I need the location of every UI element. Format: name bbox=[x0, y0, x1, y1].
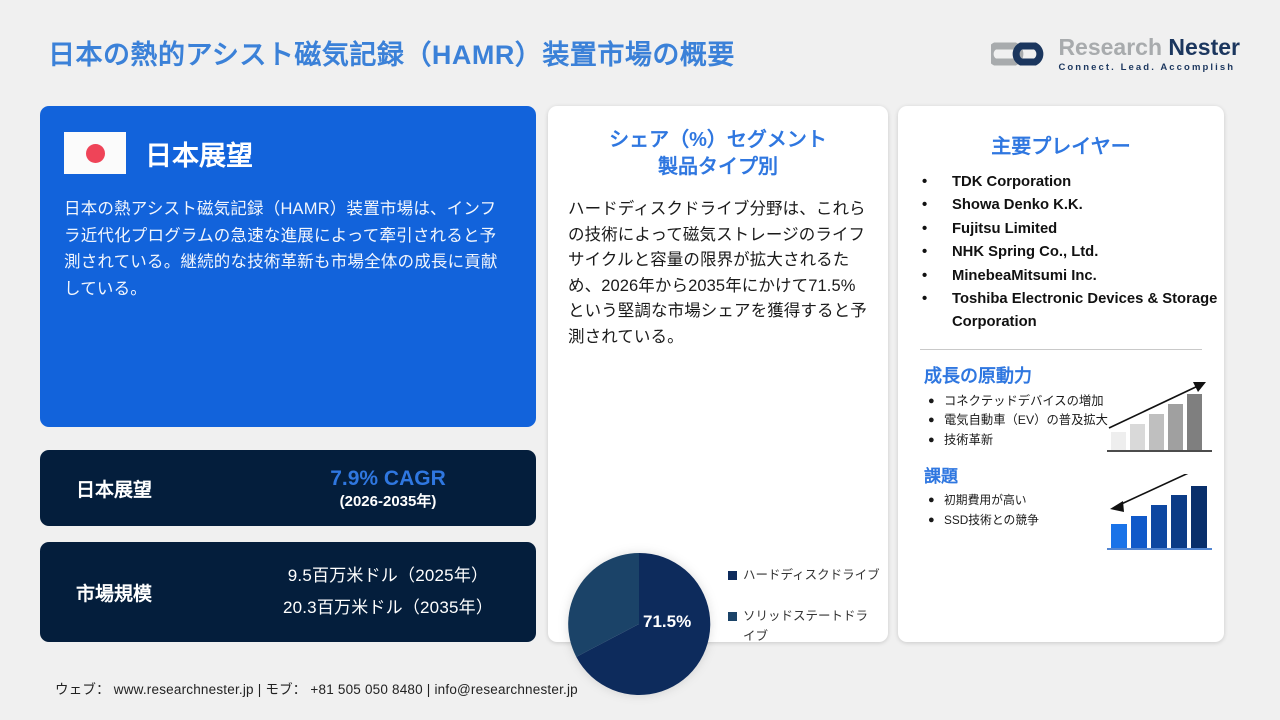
legend-item: ハードディスクドライブ bbox=[728, 566, 880, 585]
market-size-stat-card: 市場規模 9.5百万米ドル（2025年） 20.3百万米ドル（2035年） bbox=[40, 542, 536, 642]
section-divider bbox=[920, 349, 1202, 350]
segment-card-title: シェア（%）セグメント 製品タイプ別 bbox=[568, 127, 868, 181]
player-name: TDK Corporation bbox=[952, 171, 1071, 194]
key-players-title: 主要プレイヤー bbox=[898, 130, 1224, 159]
growth-driver-text: 電気自動車（EV）の普及拡大 bbox=[944, 412, 1108, 430]
player-name: Toshiba Electronic Devices & Storage Cor… bbox=[952, 288, 1224, 335]
bullet-icon: ● bbox=[928, 412, 944, 430]
segment-share-card: シェア（%）セグメント 製品タイプ別 ハードディスクドライブ分野は、これらの技術… bbox=[548, 106, 888, 642]
market-size-card-values: 9.5百万米ドル（2025年） 20.3百万米ドル（2035年） bbox=[240, 565, 536, 618]
segment-title-line1: シェア（%）セグメント bbox=[568, 127, 868, 154]
player-name: MinebeaMitsumi Inc. bbox=[952, 265, 1097, 288]
japan-outlook-header: 日本展望 bbox=[64, 132, 512, 174]
list-item: • NHK Spring Co., Ltd. bbox=[922, 241, 1224, 264]
pie-chart-legend: ハードディスクドライブ ソリッドステートドライブ bbox=[728, 566, 880, 668]
pie-chart: 71.5% bbox=[565, 550, 713, 698]
challenges-section: 課題 ● 初期費用が高い ● SSD技術との競争 bbox=[898, 462, 1224, 529]
brand-logo: Research Nester Connect. Lead. Accomplis… bbox=[991, 36, 1240, 73]
interlocking-links-logo-icon bbox=[991, 37, 1049, 71]
challenge-text: SSD技術との競争 bbox=[944, 512, 1039, 529]
legend-swatch-ssd bbox=[728, 612, 737, 621]
pie-slice-label: 71.5% bbox=[643, 612, 691, 632]
segment-title-line2: 製品タイプ別 bbox=[568, 154, 868, 181]
legend-label-hdd: ハードディスクドライブ bbox=[743, 566, 880, 585]
challenges-list: ● 初期費用が高い ● SSD技術との競争 bbox=[928, 492, 1113, 529]
bullet-icon: • bbox=[922, 288, 952, 335]
growth-drivers-section: 成長の原動力 ● コネクテッドデバイスの増加 ● 電気自動車（EV）の普及拡大 … bbox=[898, 362, 1224, 450]
cagr-value: 7.9% CAGR bbox=[240, 465, 536, 492]
bullet-icon: • bbox=[922, 265, 952, 288]
bullet-icon: ● bbox=[928, 512, 944, 529]
list-item: • Showa Denko K.K. bbox=[922, 194, 1224, 217]
list-item: • Toshiba Electronic Devices & Storage C… bbox=[922, 288, 1224, 335]
bullet-icon: • bbox=[922, 171, 952, 194]
player-name: NHK Spring Co., Ltd. bbox=[952, 241, 1098, 264]
list-item: • MinebeaMitsumi Inc. bbox=[922, 265, 1224, 288]
player-name: Showa Denko K.K. bbox=[952, 194, 1083, 217]
japan-outlook-title: 日本展望 bbox=[145, 134, 253, 173]
legend-label-ssd: ソリッドステートドライブ bbox=[743, 607, 880, 646]
pie-chart-area: 71.5% ハードディスクドライブ ソリッドステートドライブ bbox=[548, 538, 888, 642]
cagr-card-label: 日本展望 bbox=[40, 475, 240, 502]
list-item: ● コネクテッドデバイスの増加 bbox=[928, 393, 1113, 411]
list-item: ● 初期費用が高い bbox=[928, 492, 1113, 509]
japan-outlook-panel: 日本展望 日本の熱アシスト磁気記録（HAMR）装置市場は、インフラ近代化プログラ… bbox=[40, 106, 536, 427]
cagr-period: (2026-2035年) bbox=[240, 492, 536, 512]
challenges-mini-bar-chart bbox=[1107, 474, 1212, 552]
footer-contact: ウェブ： www.researchnester.jp | モブ： +81 505… bbox=[55, 678, 578, 698]
segment-card-body: ハードディスクドライブ分野は、これらの技術によって磁気ストレージのライフサイクル… bbox=[568, 197, 868, 350]
japan-outlook-body: 日本の熱アシスト磁気記録（HAMR）装置市場は、インフラ近代化プログラムの急速な… bbox=[64, 196, 512, 303]
list-item: ● SSD技術との競争 bbox=[928, 512, 1113, 529]
bullet-icon: ● bbox=[928, 492, 944, 509]
japan-flag-icon bbox=[64, 132, 126, 174]
legend-swatch-hdd bbox=[728, 571, 737, 580]
infographic-page: 日本の熱的アシスト磁気記録（HAMR）装置市場の概要 Research Nest… bbox=[0, 0, 1280, 720]
player-name: Fujitsu Limited bbox=[952, 218, 1057, 241]
cagr-stat-card: 日本展望 7.9% CAGR (2026-2035年) bbox=[40, 450, 536, 526]
list-item: ● 技術革新 bbox=[928, 432, 1113, 450]
market-size-2035: 20.3百万米ドル（2035年） bbox=[240, 597, 536, 619]
key-players-card: 主要プレイヤー • TDK Corporation • Showa Denko … bbox=[898, 106, 1224, 642]
bullet-icon: ● bbox=[928, 432, 944, 450]
legend-item: ソリッドステートドライブ bbox=[728, 607, 880, 646]
growth-drivers-list: ● コネクテッドデバイスの増加 ● 電気自動車（EV）の普及拡大 ● 技術革新 bbox=[928, 393, 1113, 450]
header: 日本の熱的アシスト磁気記録（HAMR）装置市場の概要 Research Nest… bbox=[0, 0, 1280, 96]
list-item: • Fujitsu Limited bbox=[922, 218, 1224, 241]
bullet-icon: • bbox=[922, 241, 952, 264]
key-players-list: • TDK Corporation • Showa Denko K.K. • F… bbox=[922, 171, 1224, 335]
logo-tagline: Connect. Lead. Accomplish bbox=[1058, 63, 1240, 73]
list-item: • TDK Corporation bbox=[922, 171, 1224, 194]
bullet-icon: ● bbox=[928, 393, 944, 411]
growth-mini-bar-chart bbox=[1107, 376, 1212, 454]
list-item: ● 電気自動車（EV）の普及拡大 bbox=[928, 412, 1113, 430]
bullet-icon: • bbox=[922, 218, 952, 241]
page-title: 日本の熱的アシスト磁気記録（HAMR）装置市場の概要 bbox=[48, 33, 735, 72]
challenge-text: 初期費用が高い bbox=[944, 492, 1027, 509]
logo-word-research: Research bbox=[1058, 34, 1162, 60]
growth-driver-text: コネクテッドデバイスの増加 bbox=[944, 393, 1104, 411]
cagr-card-values: 7.9% CAGR (2026-2035年) bbox=[240, 465, 536, 512]
growth-driver-text: 技術革新 bbox=[944, 432, 993, 450]
market-size-2025: 9.5百万米ドル（2025年） bbox=[240, 565, 536, 587]
logo-word-nester: Nester bbox=[1162, 34, 1240, 60]
market-size-card-label: 市場規模 bbox=[40, 579, 240, 606]
bullet-icon: • bbox=[922, 194, 952, 217]
